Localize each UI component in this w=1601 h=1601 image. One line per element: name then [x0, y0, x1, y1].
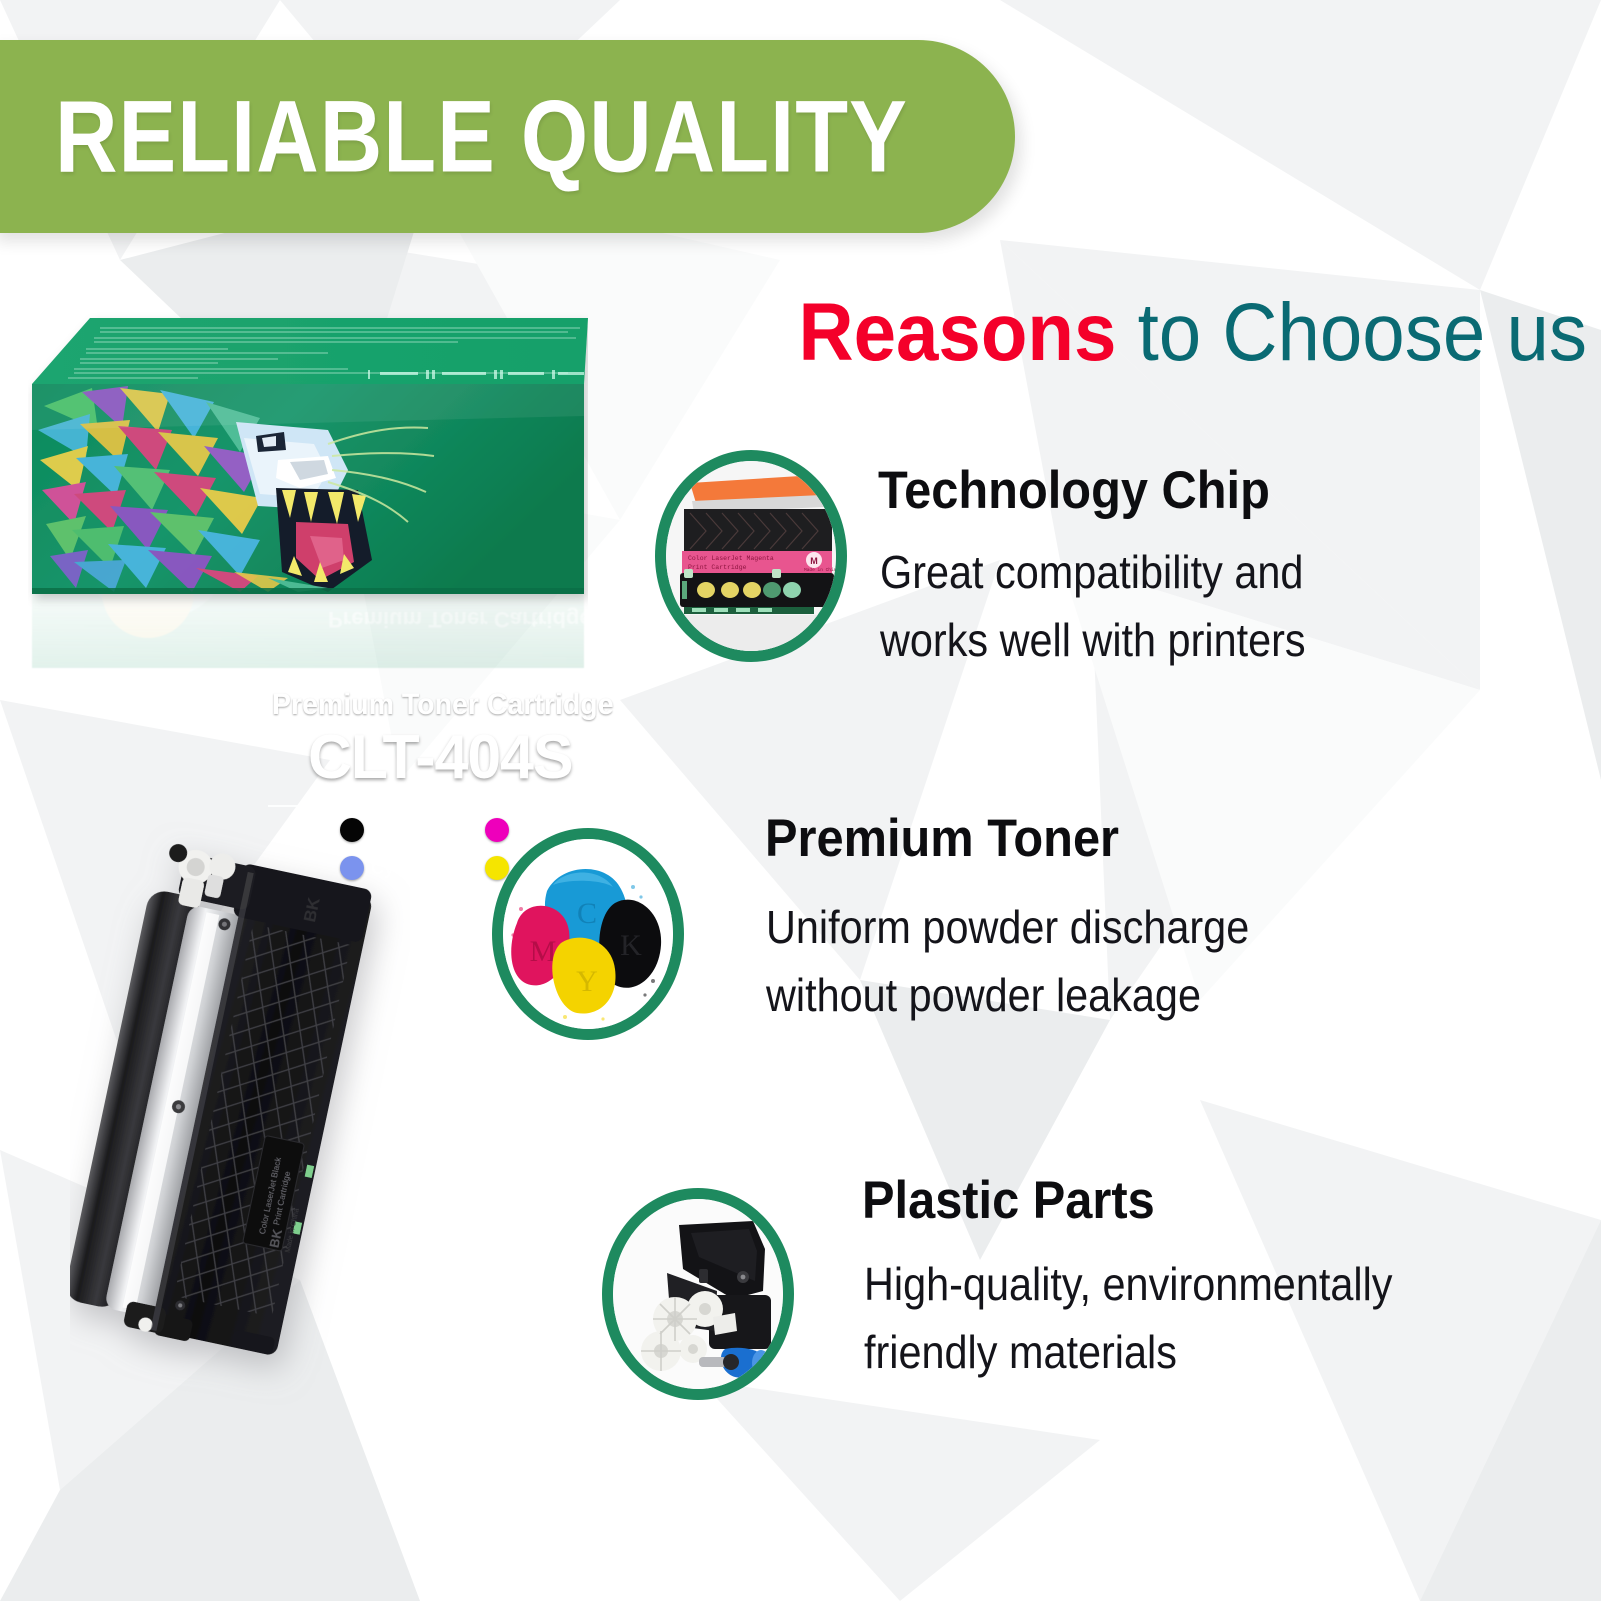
- svg-text:M: M: [810, 556, 818, 566]
- product-box-model: CLT-404S: [308, 722, 573, 793]
- cmyk-toner-powder-icon: C M K Y: [492, 828, 684, 1040]
- feature-body-line1: Uniform powder discharge: [766, 893, 1249, 961]
- feature-body-line2: friendly materials: [864, 1318, 1392, 1386]
- plastic-gears-parts-icon: [602, 1188, 794, 1400]
- color-swatch-magenta: [485, 818, 509, 842]
- svg-text:K: K: [620, 929, 642, 962]
- black-toner-cartridge-photo: BK Color LaserJet Black Print Cartridge …: [70, 820, 410, 1440]
- feature-body-plastic-parts: High-quality, environmentally friendly m…: [864, 1250, 1392, 1386]
- feature-title-technology-chip: Technology Chip: [878, 464, 1270, 517]
- feature-title-plastic-parts: Plastic Parts: [862, 1174, 1155, 1227]
- color-item-black: Black x1: [340, 813, 471, 847]
- svg-text:Print Cartridge: Print Cartridge: [688, 564, 747, 571]
- page-title-highlight: Reasons: [799, 287, 1117, 378]
- color-swatch-cyan: [340, 856, 364, 880]
- color-swatch-yellow: [485, 856, 509, 880]
- svg-text:Y: Y: [576, 965, 598, 998]
- page-title: Reasons to Choose us: [680, 288, 1587, 378]
- color-label-cyan: Cyan: [371, 858, 415, 879]
- svg-text:Made in China: Made in China: [804, 567, 836, 573]
- feature-title-premium-toner: Premium Toner: [765, 812, 1119, 865]
- product-box-artwork: [28, 310, 588, 740]
- feature-body-line1: High-quality, environmentally: [864, 1250, 1392, 1318]
- color-qty-black: x1: [451, 820, 471, 841]
- feature-body-line1: Great compatibility and: [880, 538, 1306, 606]
- feature-body-line2: works well with printers: [880, 606, 1306, 674]
- color-swatch-black: [340, 818, 364, 842]
- feature-body-premium-toner: Uniform powder discharge without powder …: [766, 893, 1249, 1029]
- feature-body-technology-chip: Great compatibility and works well with …: [880, 538, 1306, 674]
- svg-text:Color LaserJet Magenta: Color LaserJet Magenta: [688, 555, 774, 562]
- color-label-black: Black: [371, 820, 419, 841]
- color-qty-cyan: x1: [451, 858, 471, 879]
- page-title-rest: to Choose us: [1116, 287, 1587, 378]
- product-box-title: Premium Toner Cartridge: [272, 688, 614, 722]
- feature-body-line2: without powder leakage: [766, 961, 1249, 1029]
- color-item-cyan: Cyan x1: [340, 851, 471, 885]
- product-box: Premium Toner Cartridge CLT-404S Black x…: [28, 310, 588, 740]
- banner-label: RELIABLE QUALITY: [55, 92, 908, 180]
- toner-chip-contacts-icon: Color LaserJet Magenta Print Cartridge M…: [655, 450, 847, 662]
- svg-text:C: C: [577, 897, 597, 930]
- svg-text:M: M: [530, 935, 557, 968]
- reliable-quality-banner: RELIABLE QUALITY: [0, 40, 1015, 233]
- product-box-divider: [268, 805, 608, 807]
